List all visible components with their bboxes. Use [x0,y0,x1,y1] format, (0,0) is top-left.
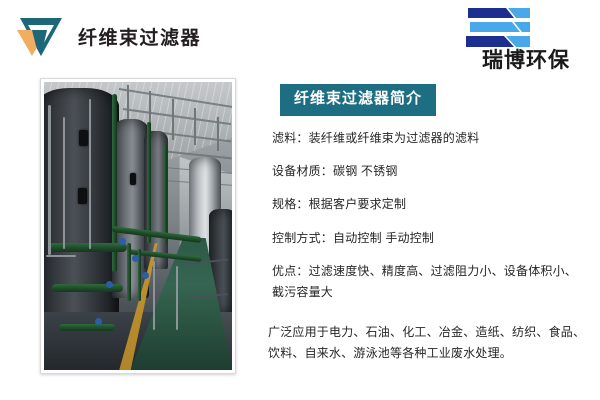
slide-root: 纤维束过滤器 瑞博环保 [0,0,600,400]
applications-line-2: 饮料、自来水、游泳池等各种工业废水处理。 [268,343,588,364]
page-title: 纤维束过滤器 [78,23,201,50]
spec-item-specification: 规格：根据客户要求定制 [272,196,588,213]
applications-paragraph: 广泛应用于电力、石油、化工、冶金、造纸、纺织、食品、 饮料、自来水、游泳池等各种… [268,322,588,364]
process-pipe [147,122,151,243]
company-name: 瑞博环保 [460,50,592,72]
process-pipe [48,243,127,252]
spec-item-control-mode: 控制方式：自动控制 手动控制 [272,230,588,247]
brand-left-group: 纤维束过滤器 [14,14,201,58]
advantages-line-2: 截污容量大 [272,284,588,301]
spec-item-equipment-material: 设备材质：碳钢 不锈钢 [272,163,588,180]
fiber-bundle-filter-plant-photo [44,82,232,370]
info-panel: 纤维束过滤器简介 滤料：装纤维或纤维束为过滤器的滤料 设备材质：碳钢 不锈钢 规… [268,78,588,378]
applications-line-1: 广泛应用于电力、石油、化工、冶金、造纸、纺织、食品、 [268,322,588,343]
advantages-line-1: 优点：过滤速度快、精度高、过滤阻力小、设备体积小、 [272,263,588,280]
process-pipe [59,324,115,331]
process-pipe [127,243,131,301]
teal-arrow-logo-icon [14,14,66,58]
page-header: 纤维束过滤器 瑞博环保 [0,0,600,72]
process-pipe [164,145,167,243]
ribo-wave-bars-icon [460,6,592,50]
spec-item-material: 滤料：装纤维或纤维束为过滤器的滤料 [272,130,588,147]
photo-frame [40,78,236,374]
panel-title: 纤维束过滤器简介 [280,84,436,116]
brand-right-group: 瑞博环保 [460,6,592,72]
spec-list: 滤料：装纤维或纤维束为过滤器的滤料 设备材质：碳钢 不锈钢 规格：根据客户要求定… [268,130,588,302]
